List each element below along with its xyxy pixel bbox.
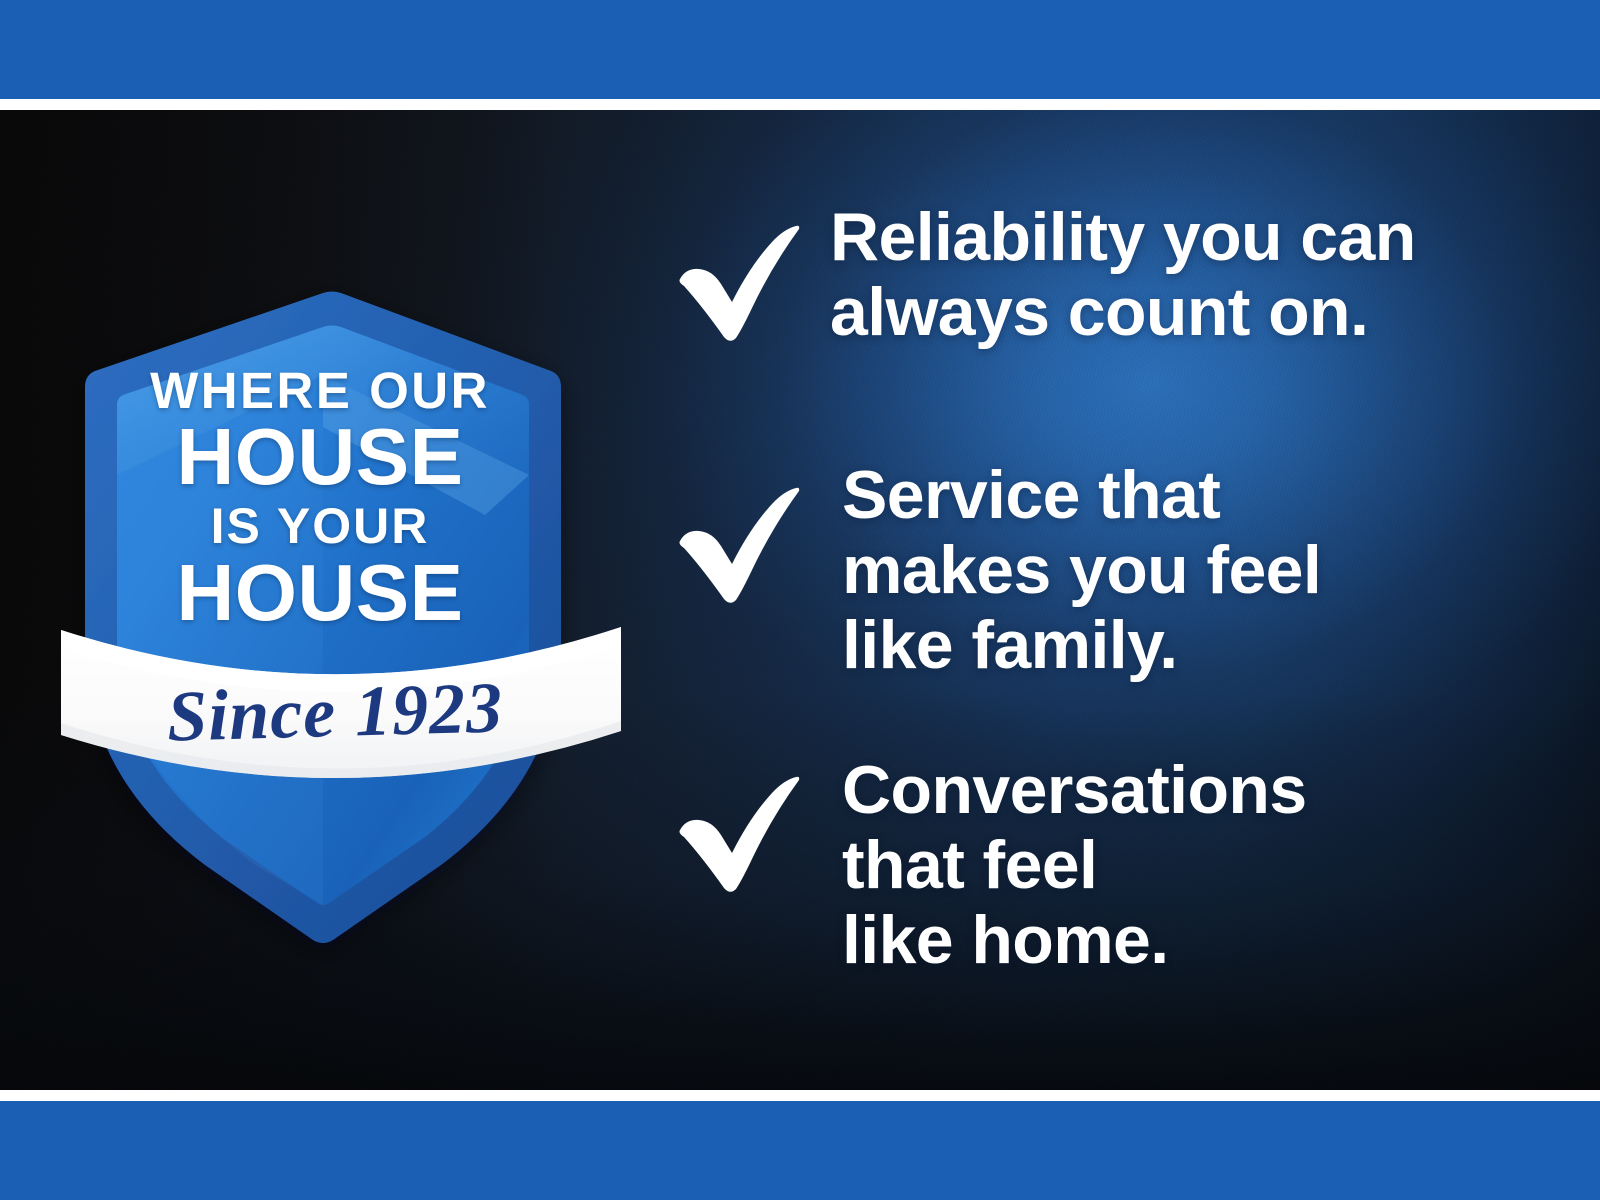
benefits-list: Reliability you can always count on. Ser… <box>672 200 1532 1013</box>
shield-tagline-line-2: HOUSE <box>55 417 585 497</box>
shield-tagline-line-3: IS YOUR <box>55 501 585 551</box>
checkmark-icon <box>672 775 807 895</box>
shield-tagline-line-4: HOUSE <box>55 553 585 633</box>
checkmark-icon <box>672 486 807 606</box>
benefit-text: Conversations that feel like home. <box>842 753 1532 977</box>
benefit-text: Reliability you can always count on. <box>830 200 1532 350</box>
benefit-item: Conversations that feel like home. <box>672 753 1532 1013</box>
shield-tagline-line-1: WHERE OUR <box>55 365 585 416</box>
promo-graphic: WHERE OUR HOUSE IS YOUR HOUSE Since 1923… <box>0 0 1600 1200</box>
checkmark-icon <box>672 224 807 344</box>
benefit-text: Service that makes you feel like family. <box>842 458 1532 682</box>
benefit-item: Service that makes you feel like family. <box>672 458 1532 753</box>
bottom-brand-bar <box>0 1101 1600 1200</box>
shield-logo: WHERE OUR HOUSE IS YOUR HOUSE Since 1923 <box>55 175 625 965</box>
benefit-item: Reliability you can always count on. <box>672 200 1532 458</box>
top-brand-bar <box>0 0 1600 99</box>
